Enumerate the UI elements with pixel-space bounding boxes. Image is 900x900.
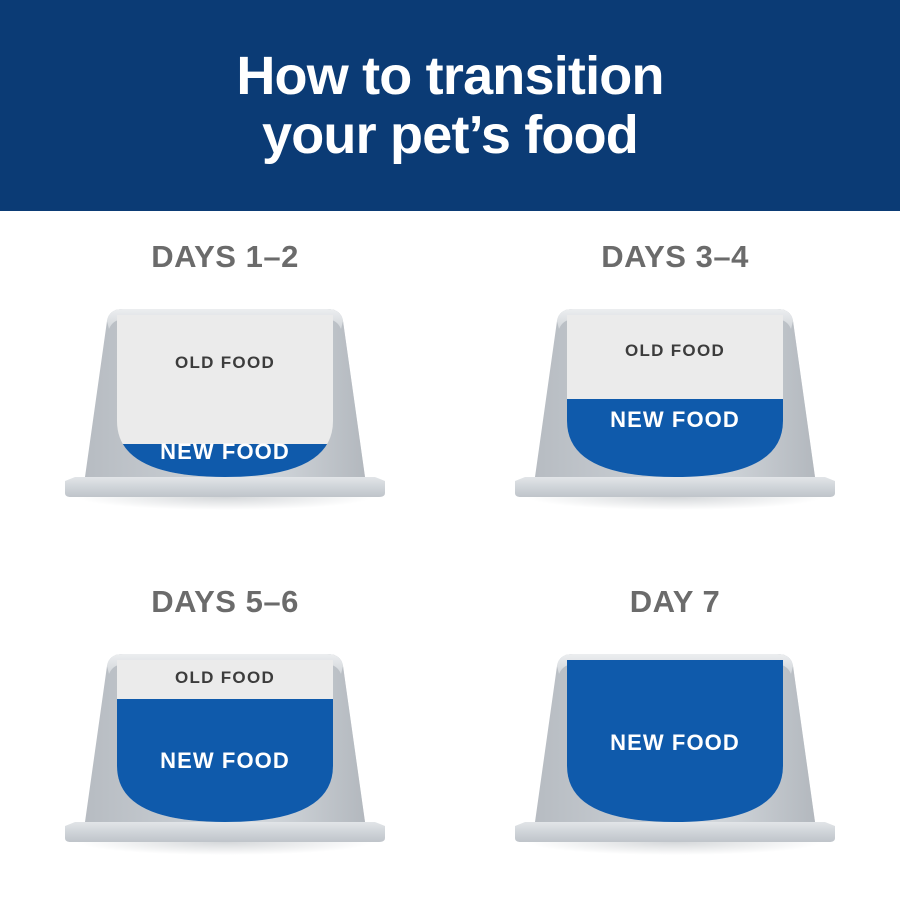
bowl-illustration <box>495 626 855 866</box>
bowl-days-1-2: OLD FOOD NEW FOOD <box>45 281 405 521</box>
step-days-3-4: DAYS 3–4 <box>450 211 900 556</box>
infographic-page: How to transition your pet’s food DAYS 1… <box>0 0 900 900</box>
bowl-illustration <box>45 626 405 866</box>
page-title: How to transition your pet’s food <box>236 47 663 165</box>
bowl-days-5-6: OLD FOOD NEW FOOD <box>45 626 405 866</box>
transition-steps-grid: DAYS 1–2 <box>0 211 900 900</box>
day-label-days-3-4: DAYS 3–4 <box>601 239 749 275</box>
step-days-5-6: DAYS 5–6 <box>0 556 450 900</box>
bowl-base <box>65 822 385 842</box>
step-day-7: DAY 7 <box>450 556 900 900</box>
bowl-base <box>515 477 835 497</box>
bowl-base <box>65 477 385 497</box>
day-label-days-5-6: DAYS 5–6 <box>151 584 299 620</box>
bowl-illustration <box>495 281 855 521</box>
bowl-base <box>515 822 835 842</box>
header-banner: How to transition your pet’s food <box>0 0 900 211</box>
bowl-illustration <box>45 281 405 521</box>
day-label-days-1-2: DAYS 1–2 <box>151 239 299 275</box>
step-days-1-2: DAYS 1–2 <box>0 211 450 556</box>
bowl-days-3-4: OLD FOOD NEW FOOD <box>495 281 855 521</box>
bowl-day-7: NEW FOOD <box>495 626 855 866</box>
day-label-day-7: DAY 7 <box>630 584 720 620</box>
